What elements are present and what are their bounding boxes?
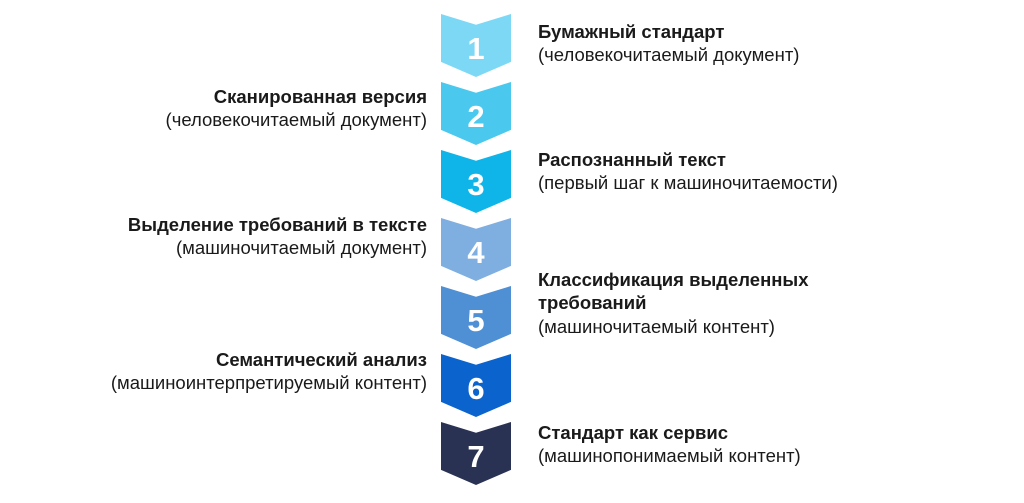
chevron-step-7[interactable]: 7 xyxy=(441,422,511,485)
chevron-step-number: 2 xyxy=(467,101,484,132)
chevron-step-5[interactable]: 5 xyxy=(441,286,511,349)
chevron-step-6[interactable]: 6 xyxy=(441,354,511,417)
step-label-subtitle: (человекочитаемый документ) xyxy=(538,43,958,66)
chevron-step-number: 1 xyxy=(467,33,484,64)
maturity-funnel-diagram: 1 2 3 4 5 6 7 Бумажный стандарт (человек… xyxy=(0,0,1024,503)
step-label-4: Выделение требований в тексте (машиночит… xyxy=(0,213,427,260)
chevron-step-number: 6 xyxy=(467,373,484,404)
chevron-step-number: 5 xyxy=(467,305,484,336)
step-label-subtitle: (машиночитаемый документ) xyxy=(0,236,427,259)
chevron-step-4[interactable]: 4 xyxy=(441,218,511,281)
step-label-subtitle: (машиночитаемый контент) xyxy=(538,315,958,338)
chevron-step-number: 3 xyxy=(467,169,484,200)
step-label-5: Классификация выделенных требований (маш… xyxy=(538,268,958,338)
step-label-3: Распознанный текст (первый шаг к машиноч… xyxy=(538,148,958,195)
step-label-7: Стандарт как сервис (машинопонимаемый ко… xyxy=(538,421,958,468)
chevron-step-3[interactable]: 3 xyxy=(441,150,511,213)
step-label-title: Семантический анализ xyxy=(0,348,427,371)
step-label-subtitle: (машиноинтерпретируемый контент) xyxy=(0,371,427,394)
step-label-1: Бумажный стандарт (человекочитаемый доку… xyxy=(538,20,958,67)
chevron-step-2[interactable]: 2 xyxy=(441,82,511,145)
step-label-subtitle: (первый шаг к машиночитаемости) xyxy=(538,171,958,194)
chevron-step-number: 4 xyxy=(467,237,484,268)
step-label-title: Классификация выделенных требований xyxy=(538,268,848,315)
step-label-title: Распознанный текст xyxy=(538,148,958,171)
step-label-6: Семантический анализ (машиноинтерпретиру… xyxy=(0,348,427,395)
chevron-column: 1 2 3 4 5 6 7 xyxy=(441,14,511,491)
step-label-title: Сканированная версия xyxy=(0,85,427,108)
step-label-title: Выделение требований в тексте xyxy=(0,213,427,236)
step-label-subtitle: (человекочитаемый документ) xyxy=(0,108,427,131)
step-label-2: Сканированная версия (человекочитаемый д… xyxy=(0,85,427,132)
step-label-title: Стандарт как сервис xyxy=(538,421,958,444)
step-label-title: Бумажный стандарт xyxy=(538,20,958,43)
chevron-step-1[interactable]: 1 xyxy=(441,14,511,77)
chevron-step-number: 7 xyxy=(467,441,484,472)
step-label-subtitle: (машинопонимаемый контент) xyxy=(538,444,958,467)
